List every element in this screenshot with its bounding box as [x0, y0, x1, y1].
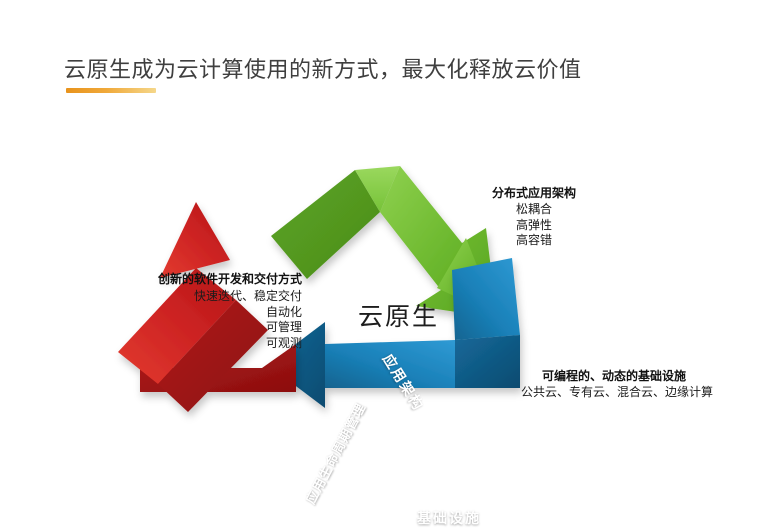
annotation-right-top-item: 高弹性 — [492, 218, 576, 234]
annotation-right-bottom-item: 公共云、专有云、混合云、边缘计算 — [521, 385, 707, 401]
page-title: 云原生成为云计算使用的新方式，最大化释放云价值 — [64, 52, 582, 84]
diagram-center-label: 云原生 — [358, 297, 439, 333]
annotation-right-top-item: 高容错 — [492, 233, 576, 249]
annotation-right-bottom: 可编程的、动态的基础设施 公共云、专有云、混合云、边缘计算 — [521, 369, 707, 401]
arrow-label-infrastructure: 基础设施 — [417, 508, 481, 528]
annotation-right-top-item: 松耦合 — [492, 202, 576, 218]
annotation-right-top-heading: 分布式应用架构 — [492, 186, 576, 202]
annotation-right-bottom-heading: 可编程的、动态的基础设施 — [521, 369, 707, 385]
annotation-left-item: 自动化 — [152, 305, 302, 321]
title-accent-underline — [66, 88, 156, 93]
annotation-left-item: 可管理 — [152, 320, 302, 336]
annotation-left: 创新的软件开发和交付方式 快速迭代、稳定交付 自动化 可管理 可观测 — [152, 272, 302, 352]
annotation-left-heading: 创新的软件开发和交付方式 — [152, 272, 302, 288]
annotation-left-item: 可观测 — [152, 336, 302, 352]
annotation-left-item: 快速迭代、稳定交付 — [152, 289, 302, 305]
annotation-right-top: 分布式应用架构 松耦合 高弹性 高容错 — [492, 186, 576, 249]
